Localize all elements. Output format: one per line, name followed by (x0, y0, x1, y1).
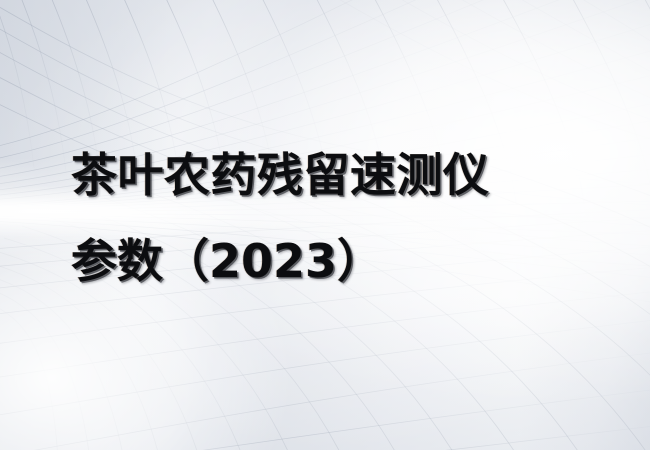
title-line-2: 参数（2023） (71, 218, 611, 304)
page-title: 茶叶农药残留速测仪 参数（2023） (71, 132, 611, 304)
title-line-1: 茶叶农药残留速测仪 (71, 132, 611, 218)
title-banner: 茶叶农药残留速测仪 参数（2023） (0, 0, 650, 450)
